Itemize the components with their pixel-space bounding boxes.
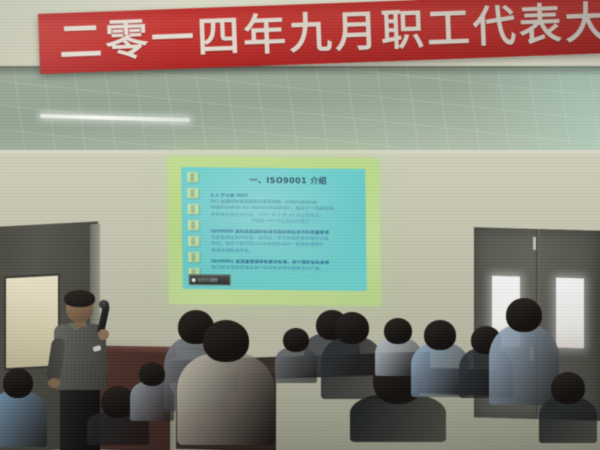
audience-torso bbox=[130, 381, 174, 421]
audience-member-13 bbox=[130, 362, 174, 426]
presenter-left-hand bbox=[48, 378, 60, 388]
audience-member-4 bbox=[177, 320, 275, 450]
slide-badge-dot-icon bbox=[192, 278, 196, 282]
audience-head bbox=[335, 312, 369, 344]
audience-head bbox=[506, 298, 542, 332]
slide-title: 一、ISO9001 介绍 bbox=[223, 174, 353, 186]
slide-body-text: 1.1 什么是 ISO?ISO 是国际标准化组织的英文简称（Internatio… bbox=[210, 193, 359, 273]
slide-strip-cell bbox=[187, 172, 198, 182]
slide-strip-cell bbox=[188, 220, 199, 230]
presenter-right-hand bbox=[98, 329, 109, 340]
slide-strip-cell bbox=[187, 188, 198, 198]
door-glass-right bbox=[556, 278, 584, 349]
projection-screen: 一、ISO9001 介绍 1.1 什么是 ISO?ISO 是国际标准化组织的英文… bbox=[167, 156, 381, 306]
slide-strip-cell bbox=[188, 236, 199, 246]
ceiling-green-reflection bbox=[420, 66, 600, 158]
audience-head bbox=[139, 362, 165, 386]
slide-status-badge[interactable]: 幻灯片放映 bbox=[189, 274, 231, 285]
audience-head bbox=[551, 372, 585, 404]
audience-torso bbox=[177, 353, 275, 445]
audience-head bbox=[384, 318, 412, 344]
photograph-scene: 二零一四年九月职工代表大 一、ISO9001 介绍 1.1 什么是 ISO?IS… bbox=[0, 0, 600, 450]
slide-strip-cell bbox=[188, 252, 199, 262]
slide-decoration-strip bbox=[186, 172, 203, 284]
audience-head bbox=[283, 328, 309, 352]
wall-seam bbox=[0, 150, 600, 156]
presentation-slide: 一、ISO9001 介绍 1.1 什么是 ISO?ISO 是国际标准化组织的英文… bbox=[181, 167, 367, 291]
presenter-hair bbox=[64, 290, 95, 307]
audience-head bbox=[3, 368, 33, 398]
slide-line: 能力稳定地提供满足客户和适用法律法规要求的产品。 bbox=[211, 265, 359, 273]
audience-member-1 bbox=[0, 368, 47, 450]
audience-torso bbox=[0, 391, 47, 447]
slide-strip-cell bbox=[188, 204, 199, 214]
slide-badge-label: 幻灯片放映 bbox=[198, 277, 218, 283]
audience-head bbox=[203, 320, 249, 362]
audience-member-14 bbox=[275, 328, 317, 388]
audience-head bbox=[424, 320, 456, 350]
audience-torso bbox=[275, 347, 317, 383]
audience-member-12 bbox=[539, 372, 597, 450]
